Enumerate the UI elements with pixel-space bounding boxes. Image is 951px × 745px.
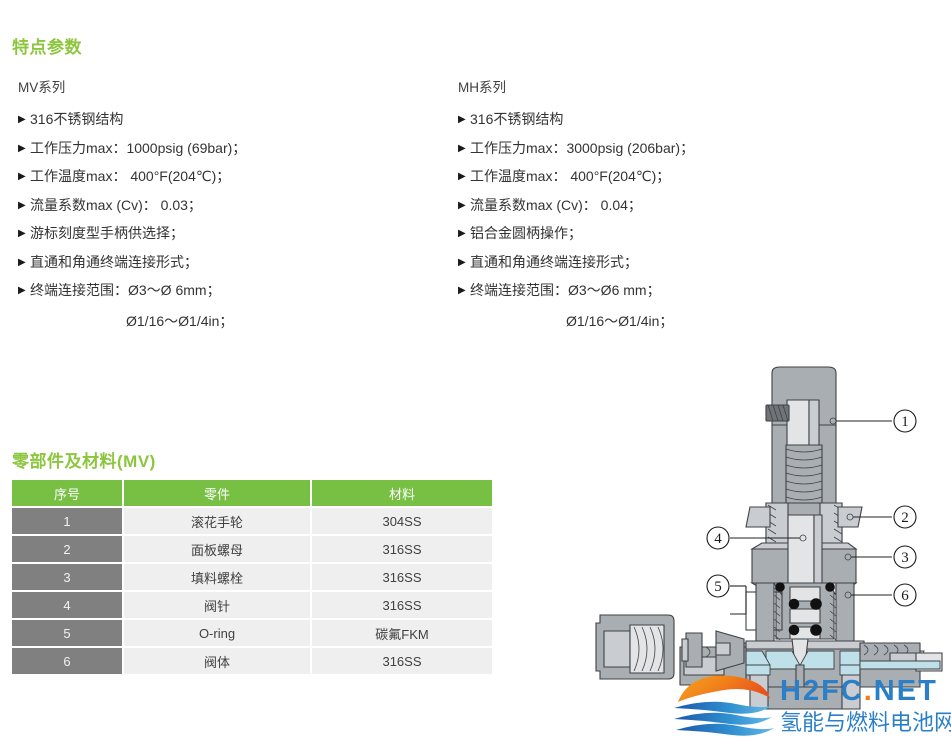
feature-text: 流量系数max (Cv)： 0.03； [30, 196, 202, 214]
parts-materials-table: 序号 零件 材料 1 滚花手轮 304SS 2 面板螺母 316SS 3 填料螺… [12, 480, 492, 674]
table-header-material: 材料 [312, 480, 492, 508]
triangle-bullet-icon: ▶ [458, 254, 469, 272]
feature-item: ▶ 316不锈钢结构 [18, 110, 448, 128]
triangle-bullet-icon: ▶ [18, 111, 29, 129]
features-column-title: MH系列 [458, 76, 888, 96]
triangle-bullet-icon: ▶ [18, 225, 29, 243]
oring [789, 599, 799, 609]
cell-material: 316SS [312, 648, 492, 674]
feature-subline: Ø1/16～Ø1/4in； [18, 311, 448, 331]
cell-part: 阀针 [124, 592, 312, 620]
triangle-bullet-icon: ▶ [18, 282, 29, 300]
features-column-mh: MH系列 ▶ 316不锈钢结构 ▶ 工作压力max：3000psig (206b… [458, 76, 888, 339]
triangle-bullet-icon: ▶ [458, 225, 469, 243]
feature-item: ▶ 流量系数max (Cv)： 0.03； [18, 196, 448, 214]
feature-text: 工作温度max： 400°F(204℃)； [470, 167, 670, 185]
cell-material: 304SS [312, 508, 492, 536]
features-column-title: MV系列 [18, 76, 448, 96]
feature-item: ▶ 游标刻度型手柄供选择； [18, 224, 448, 242]
feature-text: 316不锈钢结构 [470, 110, 563, 128]
triangle-bullet-icon: ▶ [458, 111, 469, 129]
callout-label-1: 1 [901, 414, 909, 430]
table-row: 3 填料螺栓 316SS [12, 564, 492, 592]
feature-text: 铝合金圆柄操作； [470, 224, 582, 242]
cell-no: 3 [12, 564, 124, 592]
triangle-bullet-icon: ▶ [18, 168, 29, 186]
oring [776, 583, 785, 592]
exploded-nut [596, 615, 674, 679]
feature-item: ▶ 工作温度max： 400°F(204℃)； [18, 167, 448, 185]
cell-material: 316SS [312, 592, 492, 620]
triangle-bullet-icon: ▶ [458, 197, 469, 215]
feature-item: ▶ 铝合金圆柄操作； [458, 224, 888, 242]
callout-label-6: 6 [901, 588, 909, 604]
cell-no: 5 [12, 620, 124, 648]
cell-material: 316SS [312, 536, 492, 564]
cell-part: 滚花手轮 [124, 508, 312, 536]
valve-cross-section-diagram: .mg { fill:#a9aeb3; stroke:#3f4246; stro… [560, 365, 951, 745]
feature-text: 316不锈钢结构 [30, 110, 123, 128]
cell-part: O-ring [124, 620, 312, 648]
triangle-bullet-icon: ▶ [18, 140, 29, 158]
callout-label-5: 5 [714, 579, 722, 595]
valve-needle-part4 [788, 515, 822, 593]
cell-part: 阀体 [124, 648, 312, 674]
feature-text: 工作压力max：1000psig (69bar)； [30, 139, 246, 157]
right-port-fitting [860, 643, 942, 687]
cell-material: 316SS [312, 564, 492, 592]
features-column-mv: MV系列 ▶ 316不锈钢结构 ▶ 工作压力max：1000psig (69ba… [18, 76, 448, 339]
triangle-bullet-icon: ▶ [458, 168, 469, 186]
feature-text: 直通和角通终端连接形式； [470, 253, 638, 271]
callout-label-3: 3 [901, 550, 909, 566]
callout-label-2: 2 [901, 510, 909, 526]
feature-text: 终端连接范围：Ø3～Ø6 mm； [470, 281, 661, 299]
triangle-bullet-icon: ▶ [18, 254, 29, 272]
triangle-bullet-icon: ▶ [458, 282, 469, 300]
feature-item: ▶ 316不锈钢结构 [458, 110, 888, 128]
cell-material: 碳氟FKM [312, 620, 492, 648]
feature-item: ▶ 工作温度max： 400°F(204℃)； [458, 167, 888, 185]
cell-no: 2 [12, 536, 124, 564]
cell-no: 6 [12, 648, 124, 674]
feature-item: ▶ 直通和角通终端连接形式； [18, 253, 448, 271]
features-section-heading: 特点参数 [12, 33, 82, 58]
triangle-bullet-icon: ▶ [458, 140, 469, 158]
feature-text: 工作温度max： 400°F(204℃)； [30, 167, 230, 185]
cell-no: 4 [12, 592, 124, 620]
table-row: 6 阀体 316SS [12, 648, 492, 674]
table-row: 2 面板螺母 316SS [12, 536, 492, 564]
table-row: 4 阀针 316SS [12, 592, 492, 620]
oring [811, 625, 822, 636]
feature-item: ▶ 流量系数max (Cv)： 0.04； [458, 196, 888, 214]
table-header-part: 零件 [124, 480, 312, 508]
feature-text: 终端连接范围：Ø3～Ø 6mm； [30, 281, 221, 299]
feature-item: ▶ 直通和角通终端连接形式； [458, 253, 888, 271]
callout-label-4: 4 [714, 531, 722, 547]
feature-item: ▶ 工作压力max：1000psig (69bar)； [18, 139, 448, 157]
oring [826, 583, 835, 592]
cell-no: 1 [12, 508, 124, 536]
feature-text: 直通和角通终端连接形式； [30, 253, 198, 271]
table-row: 5 O-ring 碳氟FKM [12, 620, 492, 648]
feature-text: 流量系数max (Cv)： 0.04； [470, 196, 642, 214]
feature-item: ▶ 工作压力max：3000psig (206bar)； [458, 139, 888, 157]
panel-nut-left [746, 507, 770, 527]
feature-text: 工作压力max：3000psig (206bar)； [470, 139, 694, 157]
cell-part: 面板螺母 [124, 536, 312, 564]
feature-subline: Ø1/16～Ø1/4in； [458, 311, 888, 331]
feature-text: 游标刻度型手柄供选择； [30, 224, 184, 242]
triangle-bullet-icon: ▶ [18, 197, 29, 215]
set-screw [766, 405, 789, 421]
feature-item: ▶ 终端连接范围：Ø3～Ø6 mm； [458, 281, 888, 299]
table-header-no: 序号 [12, 480, 124, 508]
table-row: 1 滚花手轮 304SS [12, 508, 492, 536]
table-header-row: 序号 零件 材料 [12, 480, 492, 508]
feature-item: ▶ 终端连接范围：Ø3～Ø 6mm； [18, 281, 448, 299]
oring [811, 599, 822, 610]
oring [789, 625, 799, 635]
parts-section-heading: 零部件及材料(MV) [12, 447, 156, 472]
cell-part: 填料螺栓 [124, 564, 312, 592]
